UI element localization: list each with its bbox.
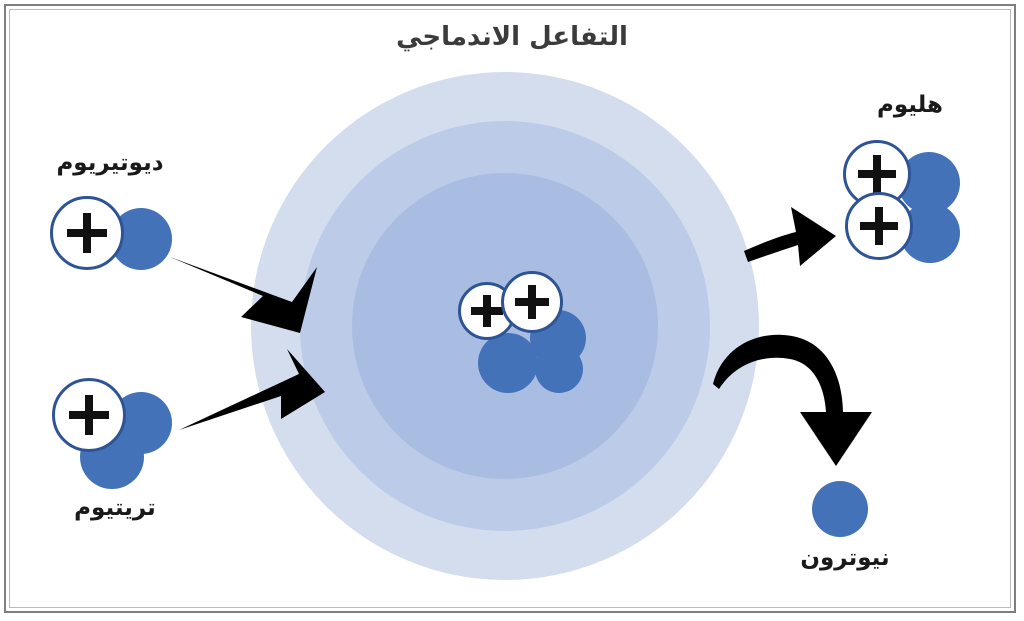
plus-icon	[471, 295, 502, 326]
helium-proton-bottom	[845, 192, 913, 260]
diagram-title: التفاعل الاندماجي	[0, 22, 1024, 52]
core-neutron-left	[478, 333, 538, 393]
deuterium-label: ديوتيريوم	[30, 150, 190, 176]
deuterium-proton	[50, 196, 124, 270]
core-proton-right	[501, 271, 563, 333]
plus-icon	[858, 155, 895, 192]
plus-icon	[67, 213, 108, 254]
fusion-reaction-diagram: التفاعل الاندماجي ديوتيريوم تريتيوم هليو…	[0, 0, 1024, 621]
plus-icon	[860, 207, 897, 244]
plus-icon	[515, 285, 549, 319]
product-neutron	[812, 481, 868, 537]
neutron-label: نيوترون	[770, 545, 920, 571]
helium-label: هليوم	[845, 92, 975, 118]
tritium-proton	[52, 378, 126, 452]
plus-icon	[69, 395, 110, 436]
tritium-label: تريتيوم	[40, 495, 190, 521]
core-neutron-lower-right	[535, 345, 583, 393]
